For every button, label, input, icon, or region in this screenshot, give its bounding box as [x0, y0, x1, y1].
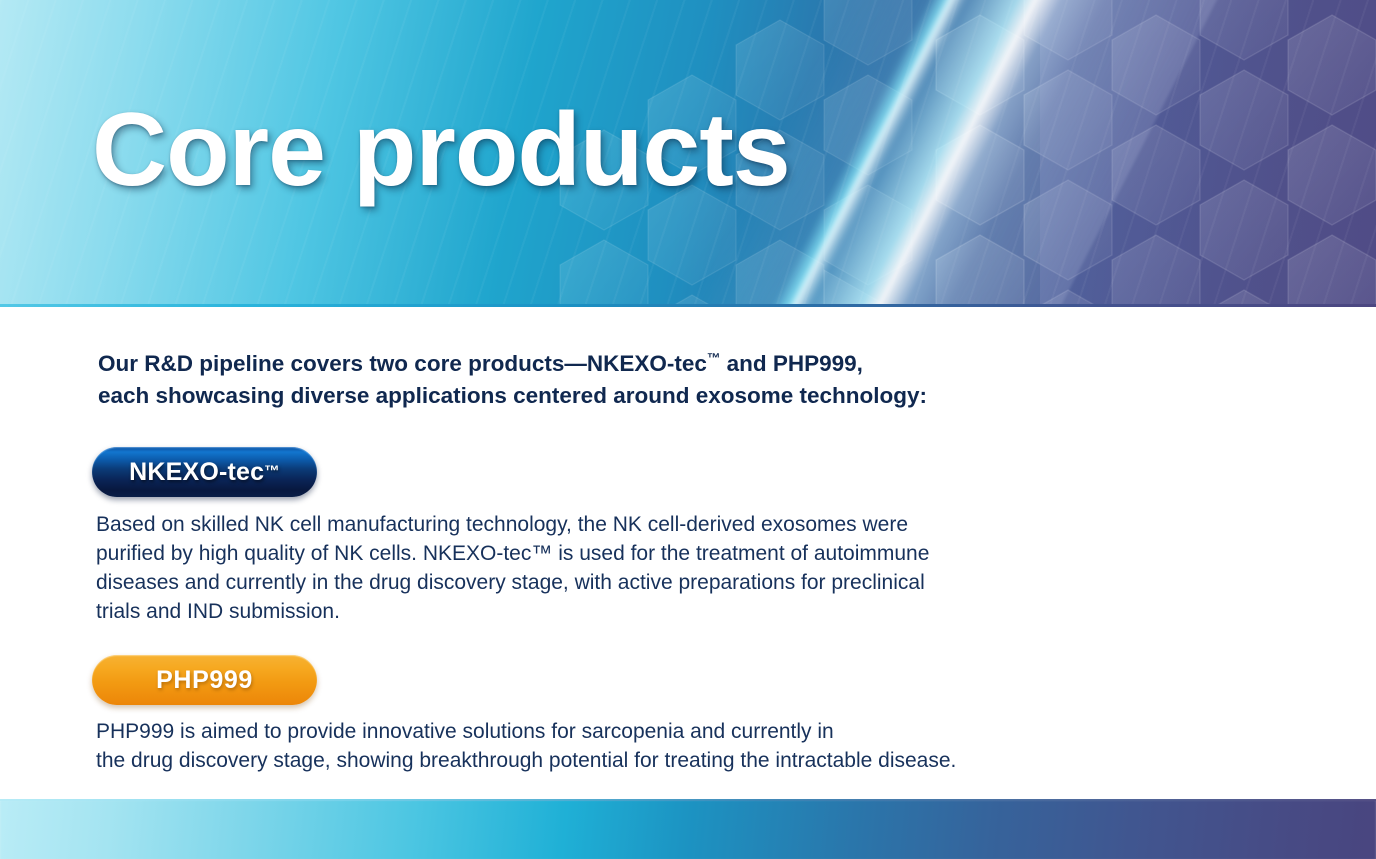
- paragraph-line: the drug discovery stage, showing breakt…: [96, 746, 1296, 775]
- paragraph-line-text: purified by high quality of NK cells. NK…: [96, 542, 531, 565]
- right-purple-wash: [1040, 0, 1376, 307]
- intro-line-1-text: Our R&D pipeline covers two core product…: [98, 351, 707, 376]
- badge-nkexo-tec[interactable]: NKEXO-tec™: [92, 447, 317, 497]
- paragraph-line: PHP999 is aimed to provide innovative so…: [96, 717, 1296, 746]
- paragraph-line: diseases and currently in the drug disco…: [96, 568, 1296, 597]
- page-title: Core products: [92, 98, 790, 202]
- intro-paragraph: Our R&D pipeline covers two core product…: [98, 348, 1278, 412]
- paragraph-line: purified by high quality of NK cells. NK…: [96, 539, 1296, 568]
- badge-php999-label: PHP999: [156, 666, 253, 695]
- badge-nkexo-tec-label: NKEXO-tec: [129, 458, 264, 487]
- content-area: Our R&D pipeline covers two core product…: [0, 307, 1376, 799]
- paragraph-nkexo-tec: Based on skilled NK cell manufacturing t…: [96, 510, 1296, 626]
- badge-php999[interactable]: PHP999: [92, 655, 317, 705]
- trademark-icon: ™: [707, 351, 721, 366]
- intro-line-1-tail: and PHP999,: [720, 351, 863, 376]
- paragraph-line-tail: ™ is used for the treatment of autoimmun…: [531, 542, 929, 565]
- intro-line-1: Our R&D pipeline covers two core product…: [98, 348, 1278, 380]
- header-banner: Core products: [0, 0, 1376, 307]
- slide-root: Core products Our R&D pipeline covers tw…: [0, 0, 1376, 859]
- paragraph-line: trials and IND submission.: [96, 597, 1296, 626]
- paragraph-line: Based on skilled NK cell manufacturing t…: [96, 510, 1296, 539]
- footer-top-highlight: [0, 799, 1376, 801]
- footer-gradient-bar: [0, 799, 1376, 859]
- intro-line-2: each showcasing diverse applications cen…: [98, 380, 1278, 412]
- paragraph-php999: PHP999 is aimed to provide innovative so…: [96, 717, 1296, 775]
